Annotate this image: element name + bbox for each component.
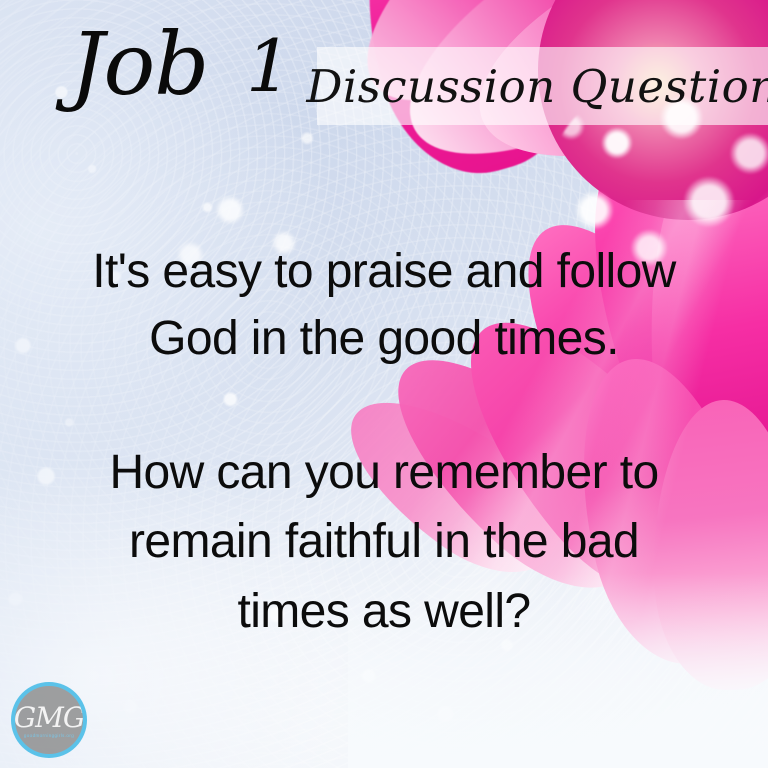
banner-label: Discussion Question	[317, 47, 768, 125]
question-paragraph: How can you remember to remain faithful …	[0, 438, 768, 645]
chapter-number: 1	[246, 30, 292, 102]
paragraph-spacer	[0, 372, 768, 438]
gmg-tagline: goodmorninggirls.org	[24, 733, 74, 738]
question-line-2: remain faithful in the bad	[0, 507, 768, 576]
statement-paragraph: It's easy to praise and follow God in th…	[0, 238, 768, 372]
question-line-3: times as well?	[0, 577, 768, 646]
header-area: Job 1 Discussion Question	[0, 0, 768, 150]
discussion-question-banner: Discussion Question	[317, 47, 768, 125]
book-title: Job	[70, 22, 208, 108]
gmg-logo: GMG goodmorninggirls.org	[11, 682, 87, 758]
question-text-block: It's easy to praise and follow God in th…	[0, 238, 768, 646]
statement-line-2: God in the good times.	[0, 305, 768, 372]
statement-line-1: It's easy to praise and follow	[0, 238, 768, 305]
question-line-1: How can you remember to	[0, 438, 768, 507]
gmg-monogram: GMG	[14, 704, 84, 732]
graphic-canvas: Job 1 Discussion Question It's easy to p…	[0, 0, 768, 768]
